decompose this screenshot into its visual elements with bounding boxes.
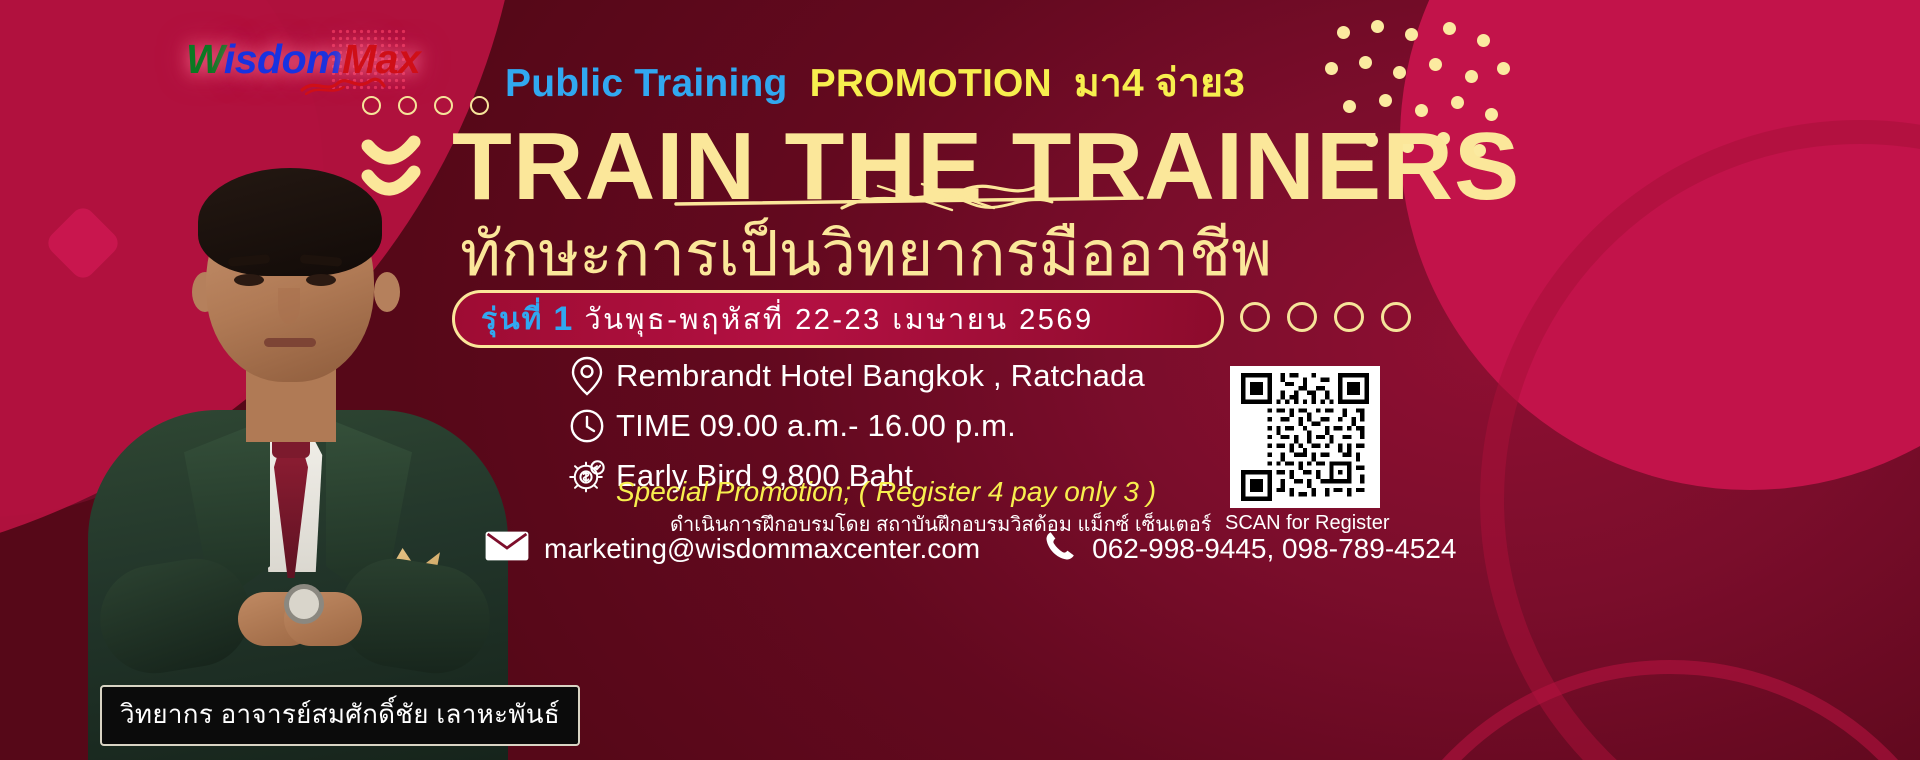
background-arc-bottom-right	[1360, 660, 1920, 760]
email-icon	[484, 530, 530, 567]
promo-thai-label: มา4 จ่าย3	[1074, 62, 1245, 105]
promo-banner: วิทยากร อาจารย์สมศักดิ์ชัย เลาหะพันธ์ Wi…	[0, 0, 1920, 760]
phone-text[interactable]: 062-998-9445, 098-789-4524	[1092, 533, 1456, 565]
background-arc-right	[1480, 120, 1920, 760]
location-pin-icon	[558, 356, 616, 396]
qr-label: SCAN for Register	[1225, 512, 1385, 535]
phone-icon	[1042, 528, 1078, 569]
logo-underline-swash	[300, 74, 386, 96]
time-text: TIME 09.00 a.m.- 16.00 p.m.	[616, 408, 1016, 444]
speaker-name-tag: วิทยากร อาจารย์สมศักดิ์ชัย เลาหะพันธ์	[100, 685, 580, 746]
promotion-note: Special Promotion; ( Register 4 pay only…	[616, 476, 1156, 508]
email-text[interactable]: marketing@wisdommaxcenter.com	[544, 533, 980, 565]
round-label: รุ่นที่	[481, 296, 543, 343]
qr-code[interactable]	[1230, 366, 1380, 508]
speaker-photo	[88, 160, 508, 760]
public-training-label: Public Training	[505, 62, 788, 105]
promotion-label: PROMOTION	[810, 62, 1052, 105]
logo-letter-w: W	[186, 36, 224, 82]
ring-row-right	[1240, 302, 1411, 332]
clock-icon	[558, 408, 616, 444]
title-scribble-underline	[672, 178, 1152, 224]
wave-chevron-icon	[358, 128, 450, 220]
session-pill: รุ่นที่ 1 วันพุธ-พฤหัสที่ 22-23 เมษายน 2…	[452, 290, 1224, 348]
venue-row: Rembrandt Hotel Bangkok , Ratchada	[558, 356, 1145, 396]
round-number: 1	[553, 300, 572, 339]
price-gear-dollar-icon	[558, 456, 616, 496]
header-line: Public Training PROMOTION มา4 จ่าย3	[505, 52, 1245, 114]
session-date: วันพุธ-พฤหัสที่ 22-23 เมษายน 2569	[584, 296, 1093, 342]
time-row: TIME 09.00 a.m.- 16.00 p.m.	[558, 408, 1145, 444]
venue-text: Rembrandt Hotel Bangkok , Ratchada	[616, 358, 1145, 394]
